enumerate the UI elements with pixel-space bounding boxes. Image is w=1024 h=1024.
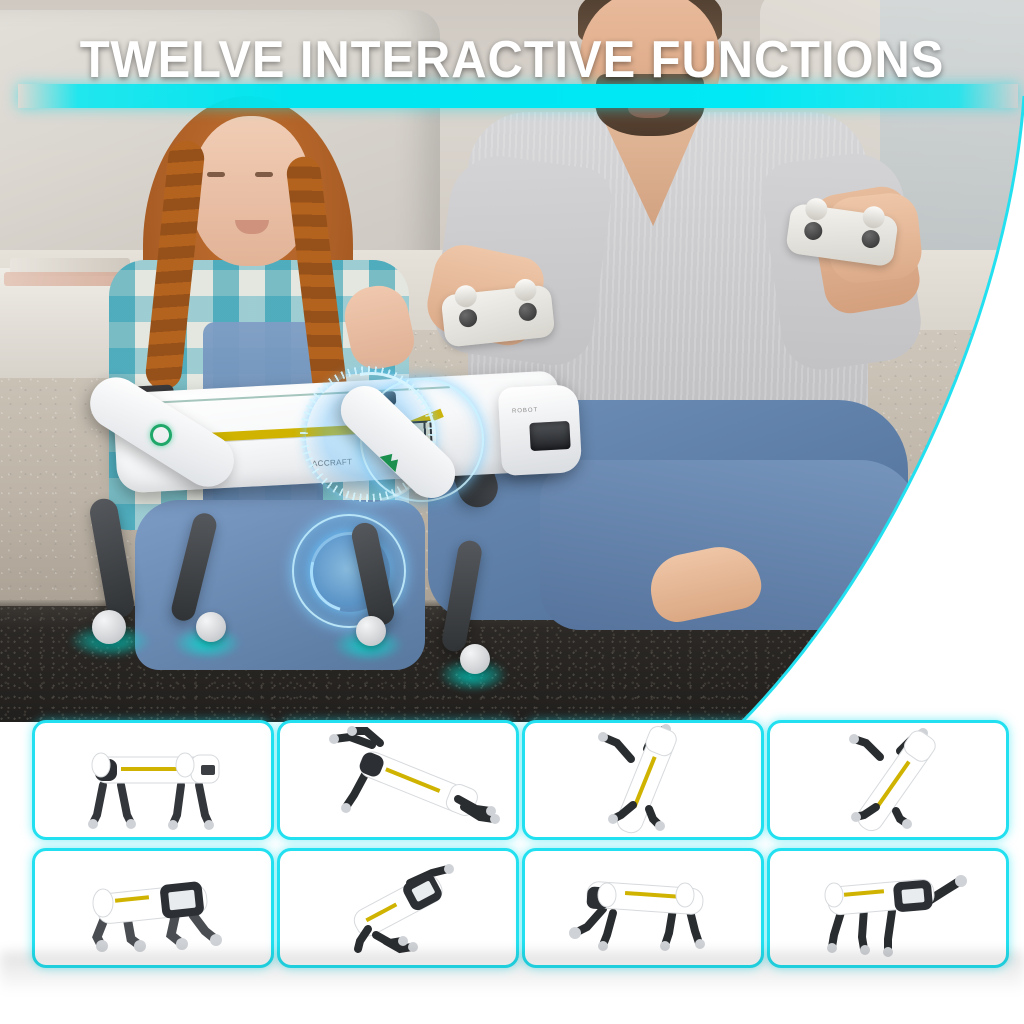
list-item[interactable] (522, 720, 764, 840)
controller-joystick-left (458, 308, 478, 328)
thumbnail-drop-shadow (0, 952, 1024, 994)
controller-joystick-right (861, 229, 881, 249)
list-item[interactable] (277, 720, 519, 840)
list-item[interactable] (32, 720, 274, 840)
robot-shin-rear-outer (88, 496, 136, 619)
robot-foot-front-outer (356, 616, 386, 646)
robot-foot-rear-outer (92, 610, 126, 644)
girl-eye-left (207, 172, 225, 177)
robot-eye-sensor (529, 421, 570, 451)
list-item[interactable] (32, 848, 274, 968)
list-item[interactable] (522, 848, 764, 968)
page-title: TWELVE INTERACTIVE FUNCTIONS (31, 30, 994, 90)
hero-photo-clip: ACCRAFT Ma ROBOT (0, 0, 1024, 722)
robot-shin-rear-inner (169, 511, 219, 624)
robot-pose-bow (525, 851, 761, 965)
robot-pose-stand (35, 723, 271, 837)
robot-shin-front-outer (349, 520, 396, 627)
hero-photo-panel: ACCRAFT Ma ROBOT (0, 0, 1024, 728)
list-item[interactable] (767, 848, 1009, 968)
robot-pose-tumble (280, 851, 516, 965)
pose-thumbnail-grid (32, 718, 988, 966)
list-item[interactable] (767, 720, 1009, 840)
girl-eye-right (255, 172, 273, 177)
robot-foot-front-inner (460, 644, 490, 674)
robot-pose-kick-back (770, 851, 1006, 965)
controller-joystick-left (803, 221, 823, 241)
robot-dog-hero: ACCRAFT Ma ROBOT (60, 372, 600, 702)
product-feature-image: ACCRAFT Ma ROBOT (0, 0, 1024, 1024)
robot-pose-stretch (280, 723, 516, 837)
robot-pose-crouch (35, 851, 271, 965)
controller-joystick-right (518, 302, 538, 322)
robot-pose-rear-up (525, 723, 761, 837)
robot-foot-rear-inner (196, 612, 226, 642)
living-room-photo: ACCRAFT Ma ROBOT (0, 0, 1024, 722)
list-item[interactable] (277, 848, 519, 968)
robot-shin-front-inner (440, 539, 483, 653)
robot-pose-handstand (770, 723, 1006, 837)
